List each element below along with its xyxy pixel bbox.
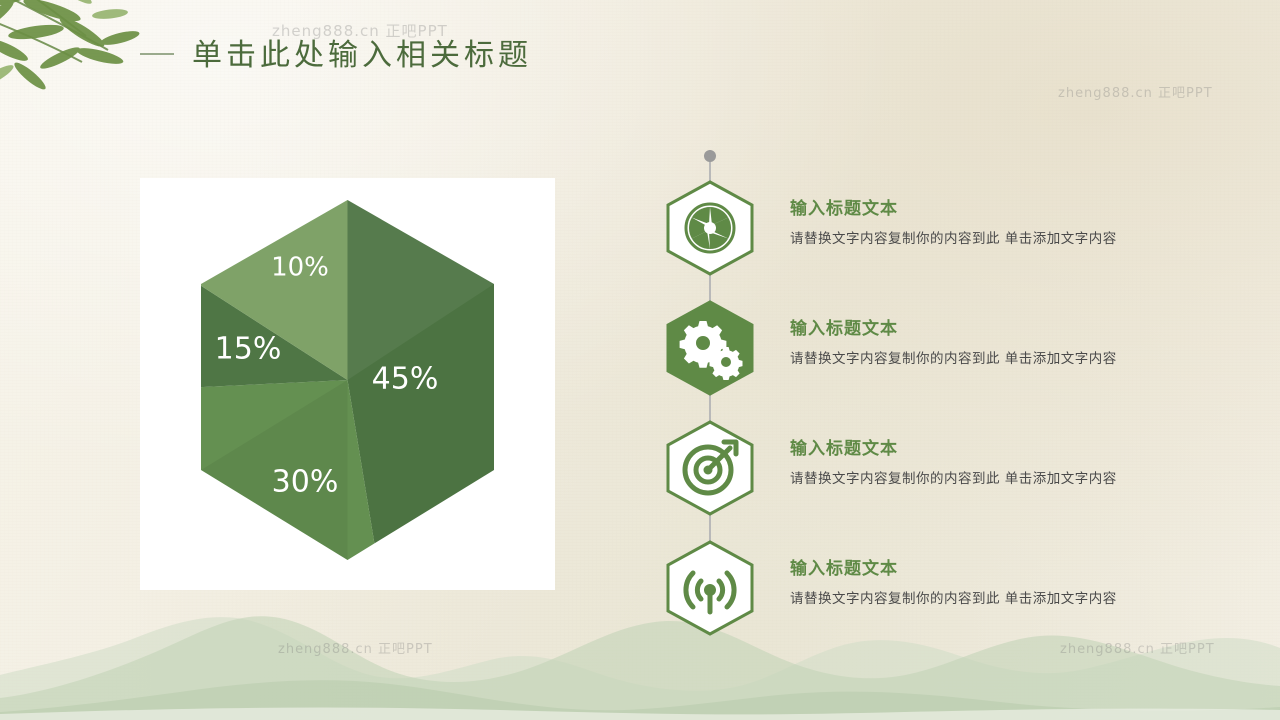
list-item-desc: 请替换文字内容复制你的内容到此 单击添加文字内容 [790,347,1210,367]
pie-label-15: 15% [215,332,282,367]
list-item-desc: 请替换文字内容复制你的内容到此 单击添加文字内容 [790,587,1210,607]
page-title: 单击此处输入相关标题 [192,30,532,74]
broadcast-signal-icon[interactable] [660,538,760,638]
hexagon-pie-chart[interactable]: 45% 30% 15% 10% [140,178,555,590]
target-dart-icon[interactable] [660,418,760,518]
aperture-icon[interactable] [660,178,760,278]
list-item[interactable]: 输入标题文本 请替换文字内容复制你的内容到此 单击添加文字内容 [660,298,1220,398]
list-item-title: 输入标题文本 [790,554,1210,579]
list-item[interactable]: 输入标题文本 请替换文字内容复制你的内容到此 单击添加文字内容 [660,538,1220,638]
list-item-desc: 请替换文字内容复制你的内容到此 单击添加文字内容 [790,467,1210,487]
gears-icon[interactable] [660,298,760,398]
list-item[interactable]: 输入标题文本 请替换文字内容复制你的内容到此 单击添加文字内容 [660,178,1220,278]
pie-label-10: 10% [271,253,329,283]
list-item-title: 输入标题文本 [790,434,1210,459]
pie-label-30: 30% [272,465,339,500]
list-item-text: 输入标题文本 请替换文字内容复制你的内容到此 单击添加文字内容 [790,194,1210,247]
timeline-dot-top [704,150,716,162]
list-item-text: 输入标题文本 请替换文字内容复制你的内容到此 单击添加文字内容 [790,434,1210,487]
list-item-text: 输入标题文本 请替换文字内容复制你的内容到此 单击添加文字内容 [790,554,1210,607]
title-accent-bar [140,53,174,55]
slide-title-group: 单击此处输入相关标题 [140,30,532,74]
list-item-title: 输入标题文本 [790,314,1210,339]
pie-label-45: 45% [372,362,439,397]
list-item-text: 输入标题文本 请替换文字内容复制你的内容到此 单击添加文字内容 [790,314,1210,367]
pie-chart-card: 45% 30% 15% 10% [140,178,555,590]
list-item[interactable]: 输入标题文本 请替换文字内容复制你的内容到此 单击添加文字内容 [660,418,1220,518]
list-item-desc: 请替换文字内容复制你的内容到此 单击添加文字内容 [790,227,1210,247]
list-item-title: 输入标题文本 [790,194,1210,219]
feature-list: 输入标题文本 请替换文字内容复制你的内容到此 单击添加文字内容 输入标题文本 请… [660,150,1220,650]
